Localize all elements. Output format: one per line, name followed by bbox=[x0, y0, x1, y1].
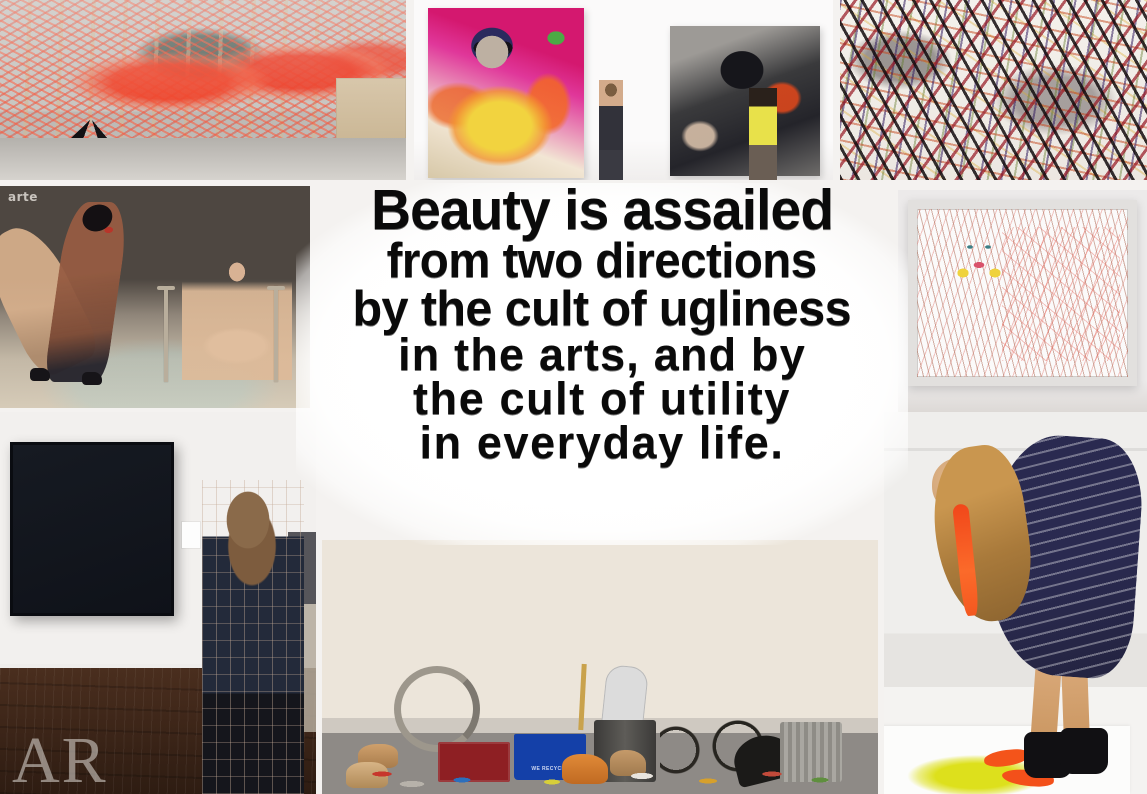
collage-image: arte AR WE RECYCLE bbox=[0, 0, 1147, 794]
panel-abstract-splatter-painting bbox=[840, 0, 1147, 180]
panel-red-stick-sculpture-installation bbox=[0, 0, 406, 180]
black-monochrome-painting bbox=[10, 442, 174, 616]
dancer-shoe-left bbox=[30, 368, 50, 381]
quote-line-3: by the cult of ugliness bbox=[353, 286, 851, 334]
quote-line-5: the cult of utility bbox=[413, 377, 791, 421]
scattered-litter bbox=[342, 754, 858, 788]
panel-contemporary-dance-performance: arte bbox=[0, 186, 310, 408]
quote-line-2: from two directions bbox=[387, 238, 817, 286]
expressionist-painting-left bbox=[428, 8, 584, 178]
panel-garbage-pile-installation: WE RECYCLE bbox=[322, 540, 878, 794]
panel-vomit-paint-performance bbox=[884, 412, 1147, 794]
panel-framed-line-drawing bbox=[898, 190, 1147, 412]
arte-watermark: arte bbox=[8, 190, 38, 204]
visitor-in-plaid-coat bbox=[202, 480, 304, 794]
crutch-left bbox=[164, 286, 168, 382]
quote-line-4: in the arts, and by bbox=[398, 333, 806, 377]
crutch-right bbox=[274, 286, 278, 382]
broom-handle bbox=[578, 664, 586, 730]
wall-label bbox=[182, 522, 200, 548]
quote-line-6: in everyday life. bbox=[420, 421, 785, 465]
performer-boot-right bbox=[1060, 728, 1108, 774]
coiled-hose bbox=[394, 666, 480, 752]
expressionist-painting-right bbox=[670, 26, 820, 176]
ar-watermark: AR bbox=[12, 731, 108, 790]
quote-line-1: Beauty is assailed bbox=[371, 183, 833, 238]
gallery-visitor-yellow-shirt bbox=[749, 88, 777, 180]
panel-viewer-before-black-monochrome: AR bbox=[0, 412, 316, 794]
gallery-visitor-center bbox=[599, 80, 623, 180]
drawn-contour-figures bbox=[1002, 227, 1120, 361]
panel-gallery-with-two-expressionist-paintings bbox=[414, 0, 833, 180]
picture-frame bbox=[908, 200, 1137, 386]
junk-pile: WE RECYCLE bbox=[342, 638, 858, 788]
museum-plaza bbox=[0, 138, 406, 180]
dancer-shoe-right bbox=[82, 372, 102, 385]
quote-overlay: Beauty is assailed from two directions b… bbox=[296, 183, 908, 545]
dancer-bent-forward bbox=[43, 202, 130, 382]
